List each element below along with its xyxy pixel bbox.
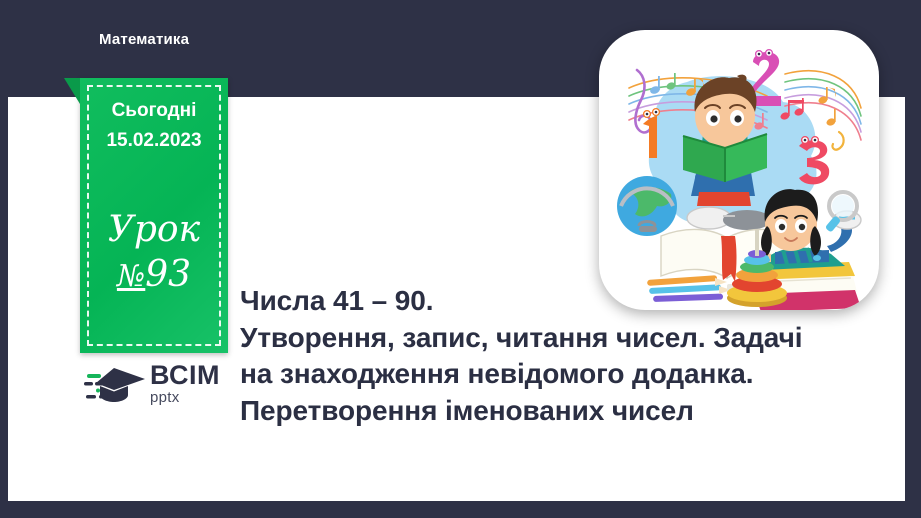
lesson-title-line-3: на знаходження невідомого доданка. (240, 356, 900, 393)
slide-canvas: Математика Сьогодні 15.02.2023 Урок №93 … (0, 0, 921, 518)
logo-text: ВСІМ pptx (150, 362, 220, 405)
illustration-card (599, 30, 879, 310)
subject-label: Математика (99, 31, 189, 48)
today-date: 15.02.2023 (80, 130, 228, 152)
lesson-title-line-4: Перетворення іменованих чисел (240, 393, 900, 430)
logo-main-text: ВСІМ (150, 362, 220, 389)
lesson-title-line-1: Числа 41 – 90. (240, 283, 900, 320)
graduation-cap-icon (84, 364, 148, 406)
bcim-pptx-logo: ВСІМ pptx (84, 362, 234, 408)
children-reading-illustration (599, 30, 879, 310)
lesson-number-prefix: № (117, 259, 145, 294)
lesson-date-card: Сьогодні 15.02.2023 Урок №93 (80, 78, 228, 353)
card-fold-corner (64, 78, 80, 104)
lesson-title: Числа 41 – 90. Утворення, запис, читання… (240, 283, 900, 430)
today-label: Сьогодні (80, 100, 228, 122)
lesson-number-value: 93 (145, 254, 191, 295)
lesson-title-line-2: Утворення, запис, читання чисел. Задачі (240, 320, 900, 357)
lesson-number: №93 (80, 256, 228, 294)
lesson-word: Урок (80, 211, 228, 249)
logo-sub-text: pptx (150, 390, 220, 405)
